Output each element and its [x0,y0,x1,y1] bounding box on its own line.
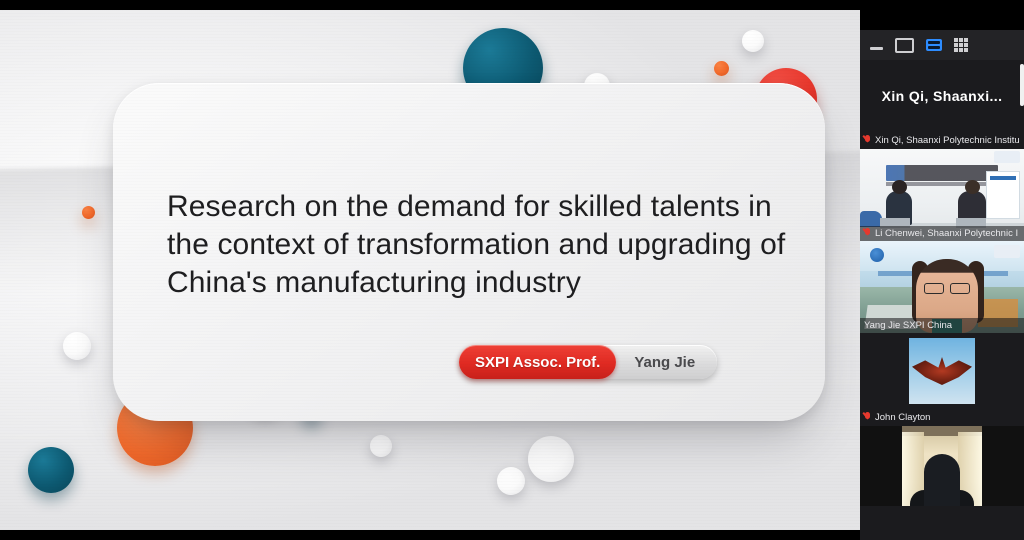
decor-circle-white-7 [528,436,574,482]
zoom-view-toolbar [860,30,1024,60]
participant-name: Li Chenwei, Shaanxi Polytechnic I [875,228,1018,239]
active-speaker-name: Xin Qi, Shaanxi... [882,88,1003,104]
panel-scrollbar[interactable] [1020,64,1024,106]
participant-name: Xin Qi, Shaanxi Polytechnic Institu [875,135,1020,146]
avatar [909,338,975,404]
participant-name: John Clayton [875,412,930,423]
participant-name-row: Xin Qi, Shaanxi Polytechnic Institu [860,132,1024,149]
participant-video-conference-room[interactable]: Li Chenwei, Shaanxi Polytechnic I [860,149,1024,241]
list-item[interactable]: Li Chenwei, Shaanxi Polytechnic I [860,149,1024,241]
shared-screen-slide: Research on the demand for skilled talen… [0,10,860,530]
speaker-role-badge: SXPI Assoc. Prof. [459,345,616,379]
muted-mic-icon [864,228,871,239]
decor-circle-orange-small [714,61,729,76]
decor-circle-white-6 [497,467,525,495]
decor-circle-white-2 [742,30,764,52]
zoom-participant-panel: Xin Qi, Shaanxi... Xin Qi, Shaanxi Polyt… [860,30,1024,540]
screen-root: Research on the demand for skilled talen… [0,0,1024,540]
participant-name-row: John Clayton [860,409,1024,426]
participant-name-row: Li Chenwei, Shaanxi Polytechnic I [860,226,1024,241]
slide-title: Research on the demand for skilled talen… [167,188,797,302]
speaker-name-badge: Yang Jie [616,345,717,379]
list-item[interactable]: Xin Qi, Shaanxi Polytechnic Institu [860,132,1024,149]
muted-mic-icon [864,135,871,146]
list-item[interactable]: Yang Jie SXPI China [860,241,1024,333]
speaker-badge: SXPI Assoc. Prof. Yang Jie [459,345,717,379]
participant-list: Xin Qi, Shaanxi Polytechnic Institu [860,132,1024,506]
participant-avatar-tile[interactable] [860,333,1024,409]
participant-video-presenter[interactable]: Yang Jie SXPI China [860,241,1024,333]
gallery-view-icon[interactable] [954,38,968,52]
muted-mic-icon [864,412,871,423]
decor-circle-white-3 [63,332,91,360]
decor-circle-white-5 [370,435,392,457]
participant-name-row: Yang Jie SXPI China [860,318,1024,333]
participant-video-silhouette[interactable] [860,426,1024,506]
slide-content-card: Research on the demand for skilled talen… [113,83,825,421]
bird-avatar-icon [912,357,972,385]
decor-circle-orange-tiny [82,206,95,219]
active-speaker-header: Xin Qi, Shaanxi... [860,60,1024,132]
list-item[interactable] [860,426,1024,506]
side-by-side-view-icon[interactable] [926,39,942,51]
participant-name: Yang Jie SXPI China [864,320,952,331]
minimize-icon[interactable] [870,41,883,50]
speaker-view-icon[interactable] [895,38,914,53]
list-item[interactable]: John Clayton [860,333,1024,426]
decor-circle-teal-bottom [28,447,74,493]
